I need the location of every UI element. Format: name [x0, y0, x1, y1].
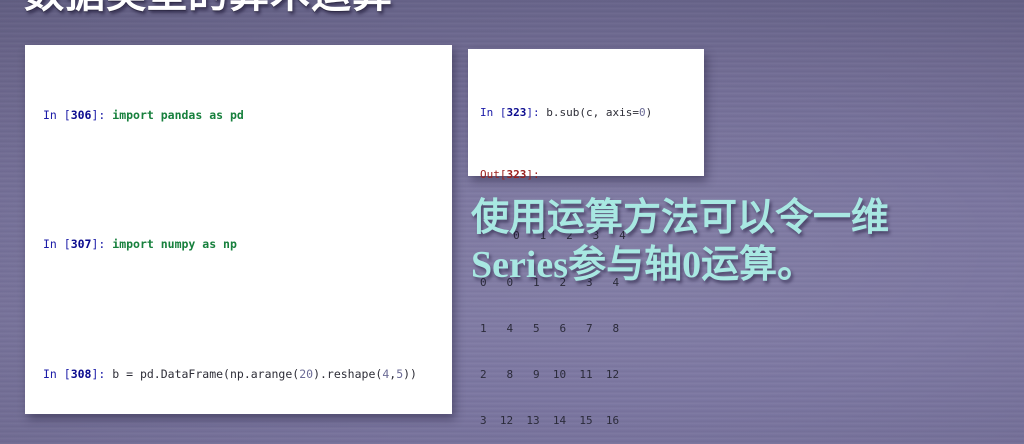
caption-line-1: 使用运算方法可以令一维 — [471, 195, 889, 242]
code-panel-right: In [323]: b.sub(c, axis=0) Out[323]: 0 1… — [468, 49, 704, 176]
prompt-in-text: In [ — [43, 367, 71, 381]
slide-caption: 使用运算方法可以令一维 Series参与轴0运算。 — [471, 195, 889, 289]
prompt-in-close: ]: — [91, 237, 112, 251]
caption-line-2: Series参与轴0运算。 — [471, 242, 889, 289]
prompt-in-close: ]: — [91, 108, 112, 122]
slide-canvas: 数据类型的算术运算 In [306]: import pandas as pd … — [0, 0, 1024, 444]
code-text: )) — [403, 367, 417, 381]
code-spacer — [43, 431, 417, 444]
prompt-in-number: 307 — [71, 237, 92, 251]
prompt-in-close: ]: — [91, 367, 112, 381]
prompt-in-text: In [ — [480, 106, 507, 119]
prompt-in-close: ]: — [526, 106, 546, 119]
prompt-in-text: In [ — [43, 237, 71, 251]
prompt-in-number: 323 — [507, 106, 527, 119]
code-text: import numpy as np — [112, 237, 237, 251]
prompt-out-number: 323 — [507, 168, 527, 181]
prompt-out-close: ]: — [526, 168, 539, 181]
code-text: import pandas as pd — [112, 108, 244, 122]
code-spacer — [43, 301, 417, 317]
prompt-in-text: In [ — [43, 108, 71, 122]
code-literal: 20 — [299, 367, 313, 381]
code-panel-left: In [306]: import pandas as pd In [307]: … — [25, 45, 452, 414]
code-line-in-306: In [306]: import pandas as pd — [43, 107, 417, 123]
code-line-in-308: In [308]: b = pd.DataFrame(np.arange(20)… — [43, 366, 417, 382]
code-text: ).reshape( — [313, 367, 382, 381]
code-text: b = pd.DataFrame(np.arange( — [112, 367, 299, 381]
code-literal: 0 — [639, 106, 646, 119]
prompt-out-text: Out[ — [480, 168, 507, 181]
code-text: ) — [646, 106, 653, 119]
page-title: 数据类型的算术运算 — [24, 0, 393, 16]
code-text: b.sub(c, axis= — [546, 106, 639, 119]
prompt-in-number: 308 — [71, 367, 92, 381]
dataframe-row: 1 4 5 6 7 8 — [480, 321, 652, 336]
dataframe-row: 3 12 13 14 15 16 — [480, 413, 652, 428]
dataframe-row: 2 8 9 10 11 12 — [480, 367, 652, 382]
code-line-in-323: In [323]: b.sub(c, axis=0) — [480, 105, 652, 120]
code-line-out-323: Out[323]: — [480, 167, 652, 182]
prompt-in-number: 306 — [71, 108, 92, 122]
code-block-left: In [306]: import pandas as pd In [307]: … — [43, 58, 417, 444]
code-line-in-307: In [307]: import numpy as np — [43, 236, 417, 252]
code-spacer — [43, 171, 417, 187]
